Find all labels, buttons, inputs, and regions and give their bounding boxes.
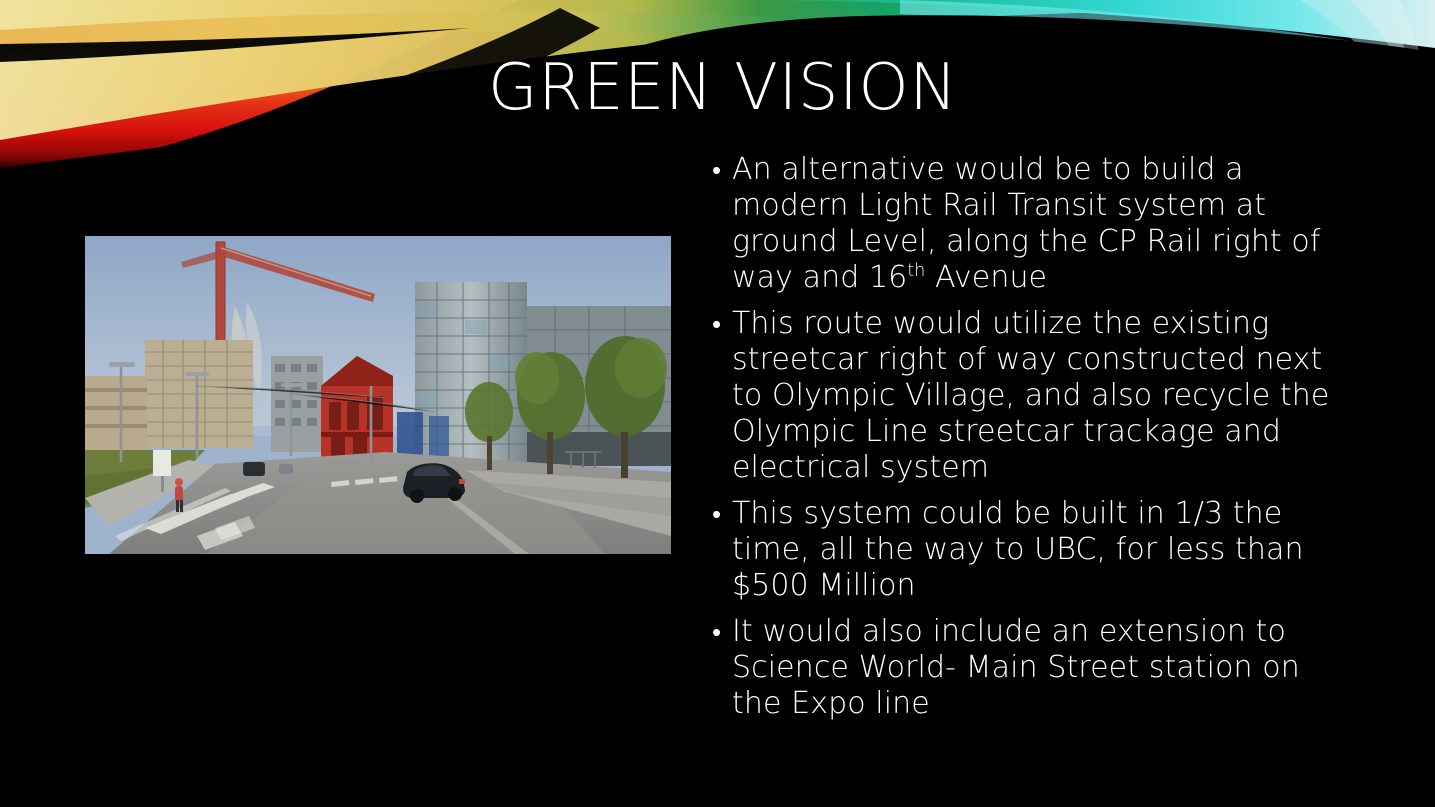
bullet-text: It would also include an extension to Sc… (732, 614, 1338, 722)
bullet-marker-icon: • (706, 152, 732, 188)
bullet-text-post: Avenue (925, 260, 1047, 295)
bullet-text-pre: It would also include an extension to Sc… (732, 614, 1300, 721)
bullet-text-pre: This system could be built in 1/3 the ti… (732, 496, 1304, 603)
bullet-marker-icon: • (706, 614, 732, 650)
list-item: • This route would utilize the existing … (706, 306, 1338, 486)
bullet-marker-icon: • (706, 496, 732, 532)
page-title: Green Vision (488, 56, 958, 120)
street-level-photo (85, 236, 671, 554)
bullet-text: This route would utilize the existing st… (732, 306, 1338, 486)
bullet-marker-icon: • (706, 306, 732, 342)
bullet-text: An alternative would be to build a moder… (732, 152, 1338, 296)
list-item: • This system could be built in 1/3 the … (706, 496, 1338, 604)
bullet-text-superscript: th (907, 261, 925, 281)
bullet-list: • An alternative would be to build a mod… (706, 152, 1338, 732)
list-item: • It would also include an extension to … (706, 614, 1338, 722)
bullet-text-pre: This route would utilize the existing st… (732, 306, 1329, 485)
list-item: • An alternative would be to build a mod… (706, 152, 1338, 296)
bullet-text: This system could be built in 1/3 the ti… (732, 496, 1338, 604)
presentation-slide: Green Vision (0, 0, 1435, 807)
